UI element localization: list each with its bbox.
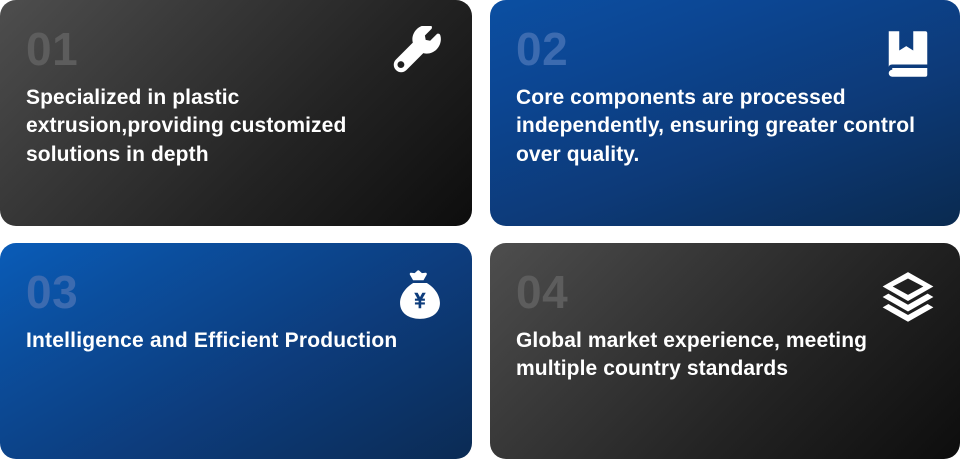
layers-stack-icon <box>880 269 936 325</box>
wrench-icon <box>392 26 448 82</box>
money-bag-yen-icon <box>392 269 448 325</box>
card-text-01: Specialized in plastic extrusion,providi… <box>26 84 442 169</box>
card-number-01: 01 <box>26 26 78 72</box>
feature-card-04[interactable]: 04 Global market experience, meeting mul… <box>490 243 960 459</box>
card-number-03: 03 <box>26 269 78 315</box>
card-text-02: Core components are processed independen… <box>516 84 930 169</box>
book-bookmark-icon <box>880 26 936 82</box>
feature-card-grid: 01 Specialized in plastic extrusion,prov… <box>0 0 960 459</box>
card-text-03: Intelligence and Efficient Production <box>26 327 397 355</box>
feature-card-02[interactable]: 02 Core components are processed indepen… <box>490 0 960 226</box>
feature-card-03[interactable]: 03 Intelligence and Efficient Production <box>0 243 472 459</box>
card-text-04: Global market experience, meeting multip… <box>516 327 930 384</box>
feature-card-01[interactable]: 01 Specialized in plastic extrusion,prov… <box>0 0 472 226</box>
card-number-04: 04 <box>516 269 568 315</box>
card-number-02: 02 <box>516 26 568 72</box>
